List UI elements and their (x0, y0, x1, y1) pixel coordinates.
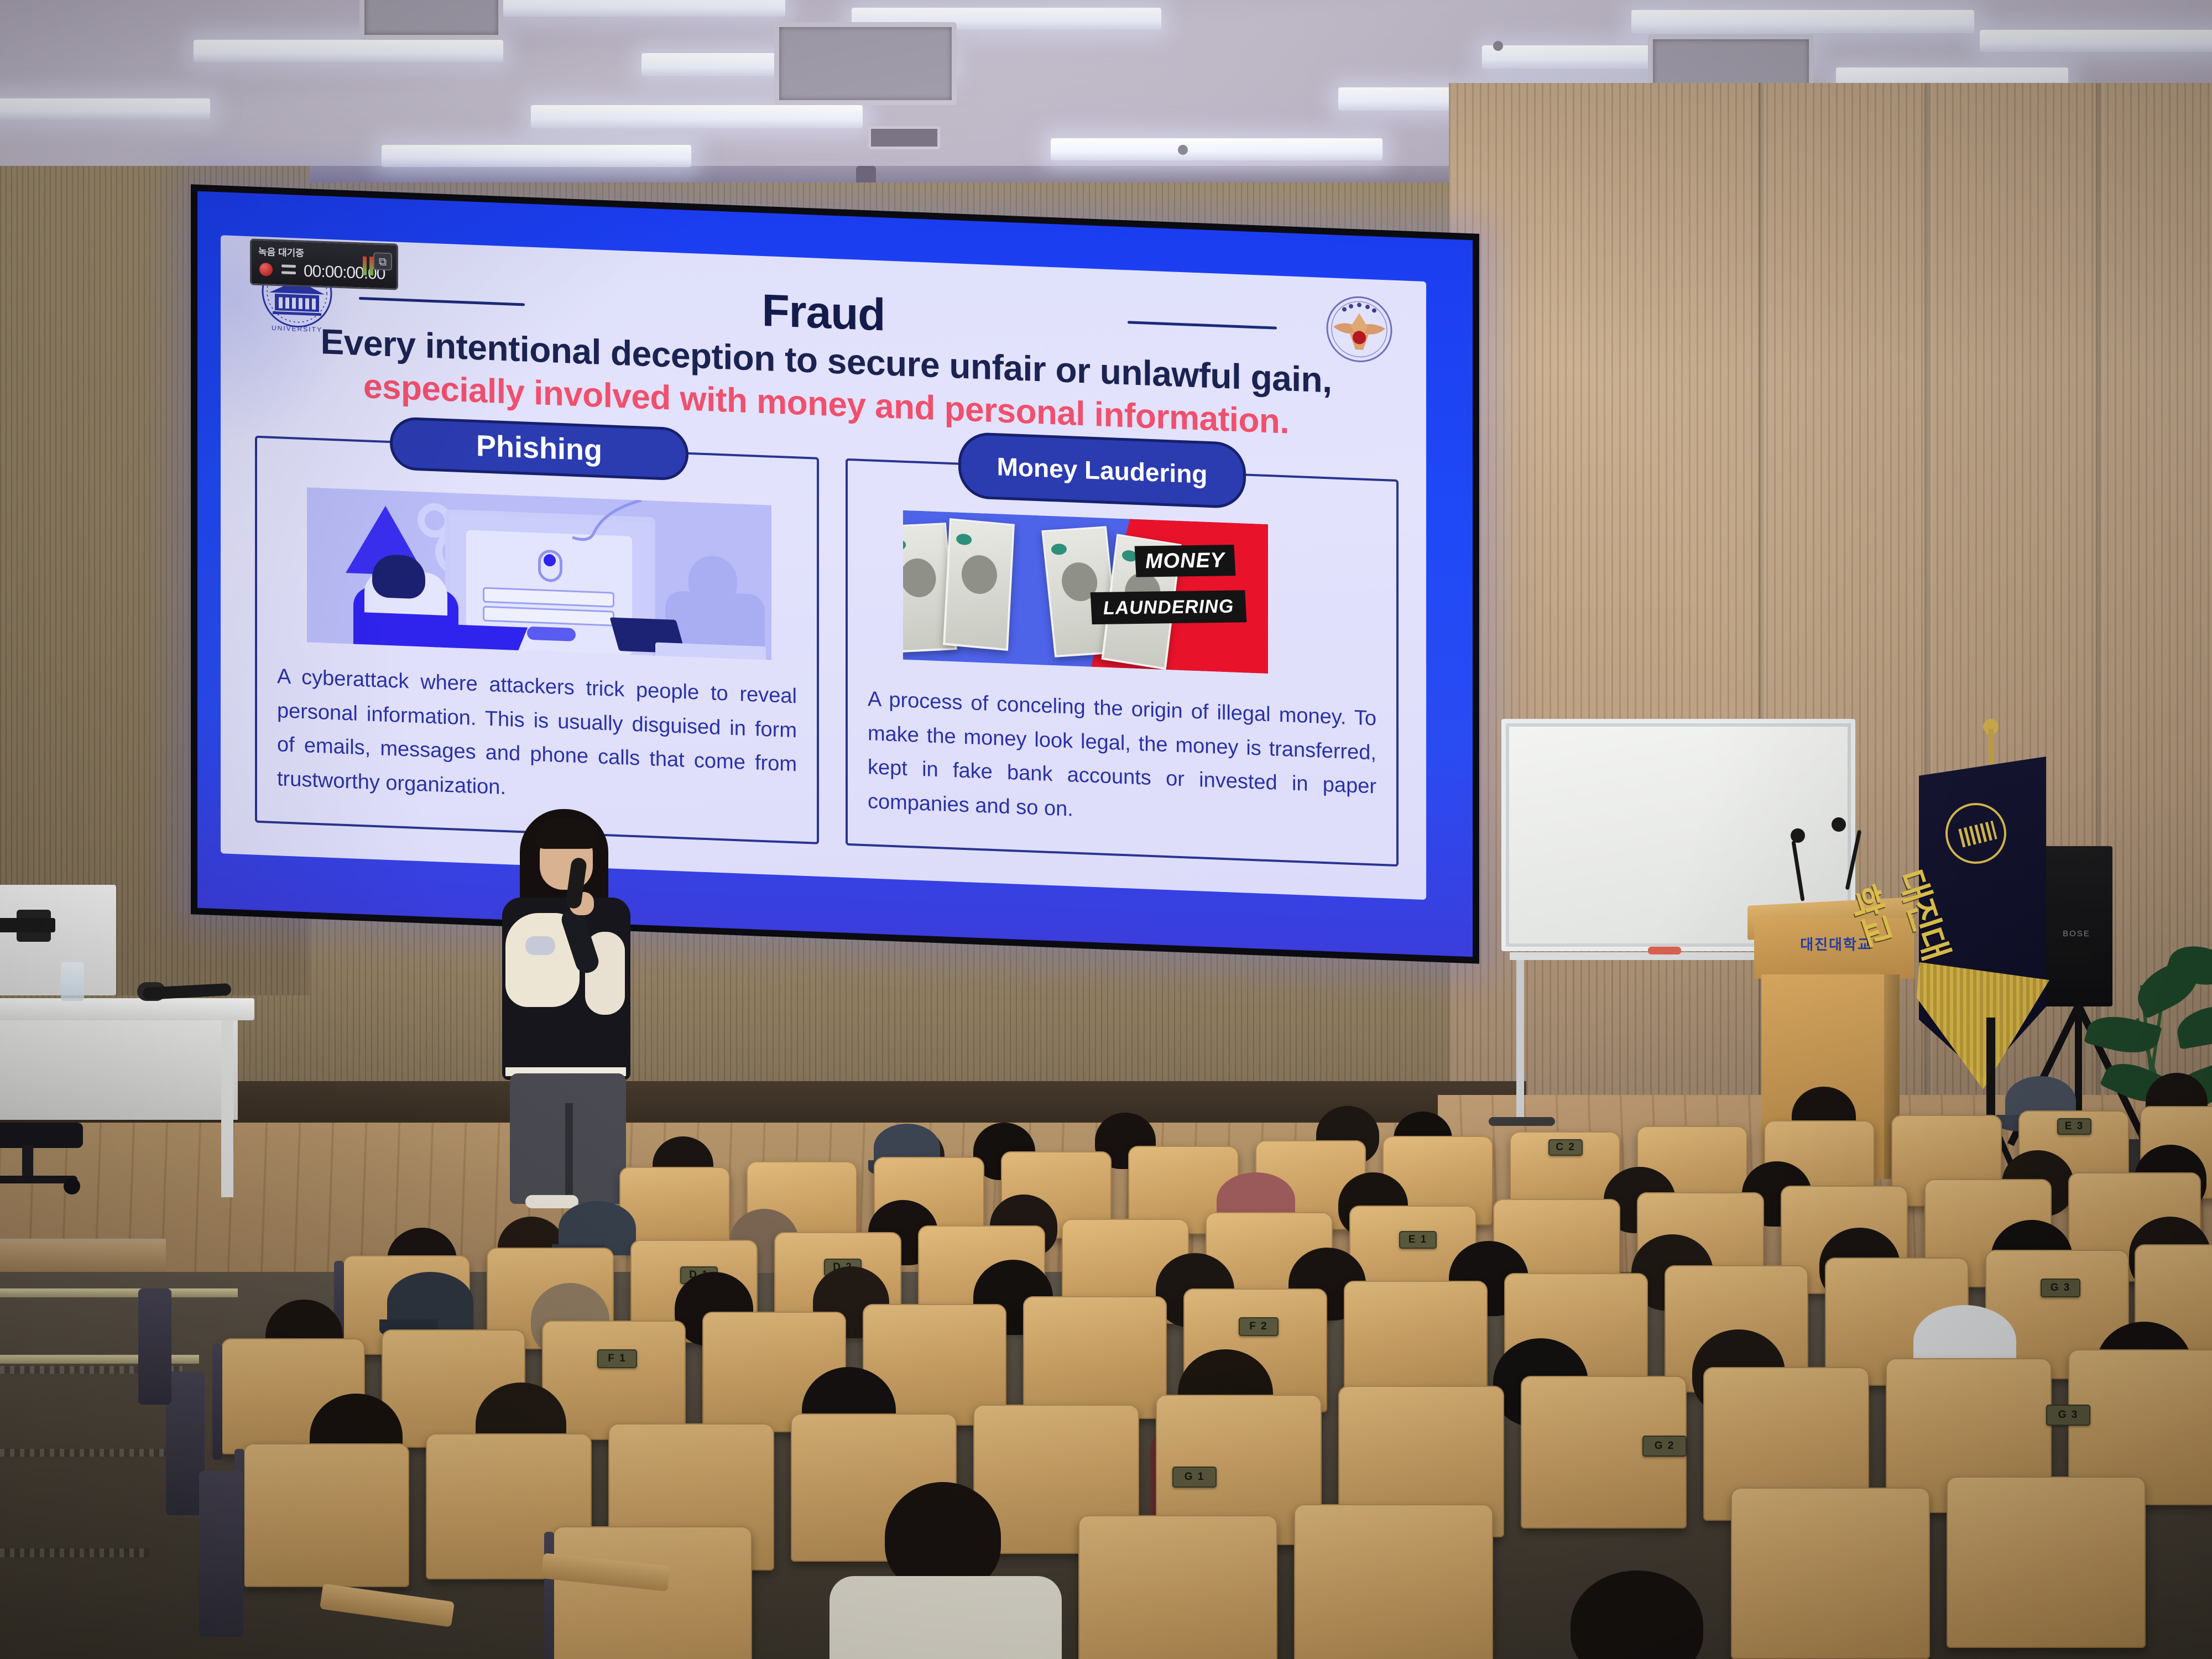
pause-icon[interactable] (281, 264, 296, 268)
plant-leaf (2174, 1002, 2212, 1050)
auditorium-seat (553, 1526, 752, 1659)
seat-tag: G 3 (2041, 1279, 2080, 1297)
whiteboard-leg (1516, 960, 1524, 1126)
seat-tag: F 2 (1239, 1317, 1279, 1336)
stage-step (0, 1239, 166, 1272)
seat-tag: C 2 (1548, 1139, 1583, 1156)
auditorium-seat (619, 1167, 730, 1250)
seat-tag: E 1 (1399, 1231, 1437, 1249)
fluorescent-tube-light (194, 40, 503, 62)
jacket-patch (525, 936, 555, 955)
laundering-caption: LAUNDERING (1091, 590, 1247, 624)
auditorium-seat (243, 1443, 409, 1587)
panel-money-laundering: Money Laudering MONEY LAUNDERING A proce… (846, 458, 1399, 867)
money-laundering-photo: MONEY LAUNDERING (903, 510, 1268, 674)
seat-tag: G 3 (2046, 1405, 2090, 1426)
pause-icon-bar2[interactable] (281, 271, 296, 274)
fluorescent-tube-light (382, 145, 691, 167)
fishing-hook-icon (539, 496, 644, 561)
record-dot-icon[interactable] (259, 263, 273, 276)
air-vent (774, 22, 957, 105)
panel-pill-money-laundering: Money Laudering (958, 432, 1246, 509)
desk-modesty-panel (0, 1020, 238, 1120)
seat-side-panel (138, 1288, 171, 1405)
office-chair (0, 1123, 88, 1206)
fluorescent-tube-light (0, 98, 210, 119)
seat-tag: E 3 (2057, 1118, 2091, 1135)
auditorium-seat (1078, 1515, 1277, 1659)
auditorium-seat (1294, 1504, 1493, 1659)
aisle-tread-strip (0, 1449, 166, 1457)
ceiling-speaker (868, 126, 940, 149)
fluorescent-tube-light (1980, 30, 2212, 52)
fluorescent-tube-light (1631, 10, 1974, 33)
auditorium-seat (1731, 1488, 1930, 1659)
recording-status-label: 녹음 대기중 (258, 244, 304, 259)
panel-phishing: Phishing (255, 436, 819, 844)
presenter (487, 805, 647, 1208)
audience-shoulders (830, 1576, 1062, 1659)
presenter-desk (0, 998, 254, 1020)
panel-pill-phishing: Phishing (390, 416, 688, 481)
panel-body-money-laundering: A process of conceling the origin of ill… (868, 682, 1376, 838)
presenter-shoe (525, 1195, 578, 1208)
seat-tag: G 1 (1172, 1467, 1217, 1488)
audio-level-meter (369, 257, 373, 275)
panel-body-phishing: A cyberattack where attackers trick peop… (277, 660, 797, 816)
projection-screen: DAEJIN UNIVERSITY (191, 184, 1479, 964)
podium-microphone-head (1832, 817, 1846, 832)
seat-tag: F 1 (597, 1349, 637, 1368)
dollar-bill (943, 518, 1015, 651)
submit-button-graphic (527, 627, 576, 641)
water-bottle (61, 962, 84, 1001)
whiteboard-foot (1489, 1117, 1555, 1126)
fluorescent-tube-light (531, 105, 863, 128)
auditorium-seat (1023, 1296, 1167, 1419)
smoke-detector (1493, 41, 1503, 51)
desk-leg (221, 1020, 233, 1197)
monitor-arm (0, 918, 55, 932)
auditorium-seat (1947, 1477, 2146, 1648)
seat-side-panel (199, 1471, 243, 1637)
pants-seam (565, 1103, 573, 1204)
screen-blue-background: DAEJIN UNIVERSITY (197, 191, 1473, 957)
fluorescent-tube-light (498, 0, 785, 17)
smoke-detector (1178, 145, 1188, 155)
phishing-illustration (307, 487, 771, 660)
recording-toolbar[interactable]: 녹음 대기중 00:00:00.00 ⧉ (250, 238, 398, 290)
air-vent (359, 0, 503, 40)
auditorium-photo: DAEJIN UNIVERSITY (0, 0, 2212, 1659)
whiteboard-marker (1648, 947, 1681, 954)
seat-tag: G 2 (1642, 1436, 1687, 1457)
presentation-slide: DAEJIN UNIVERSITY (221, 235, 1426, 900)
audio-level-meter (363, 256, 367, 275)
laptop-graphic (429, 624, 528, 653)
presenter-fringe (535, 818, 597, 849)
expand-icon[interactable]: ⧉ (373, 252, 392, 270)
fluorescent-tube-light (1051, 138, 1383, 160)
money-caption: MONEY (1135, 545, 1236, 577)
aisle-tread-strip (0, 1548, 149, 1557)
step-nosing (0, 1288, 238, 1297)
